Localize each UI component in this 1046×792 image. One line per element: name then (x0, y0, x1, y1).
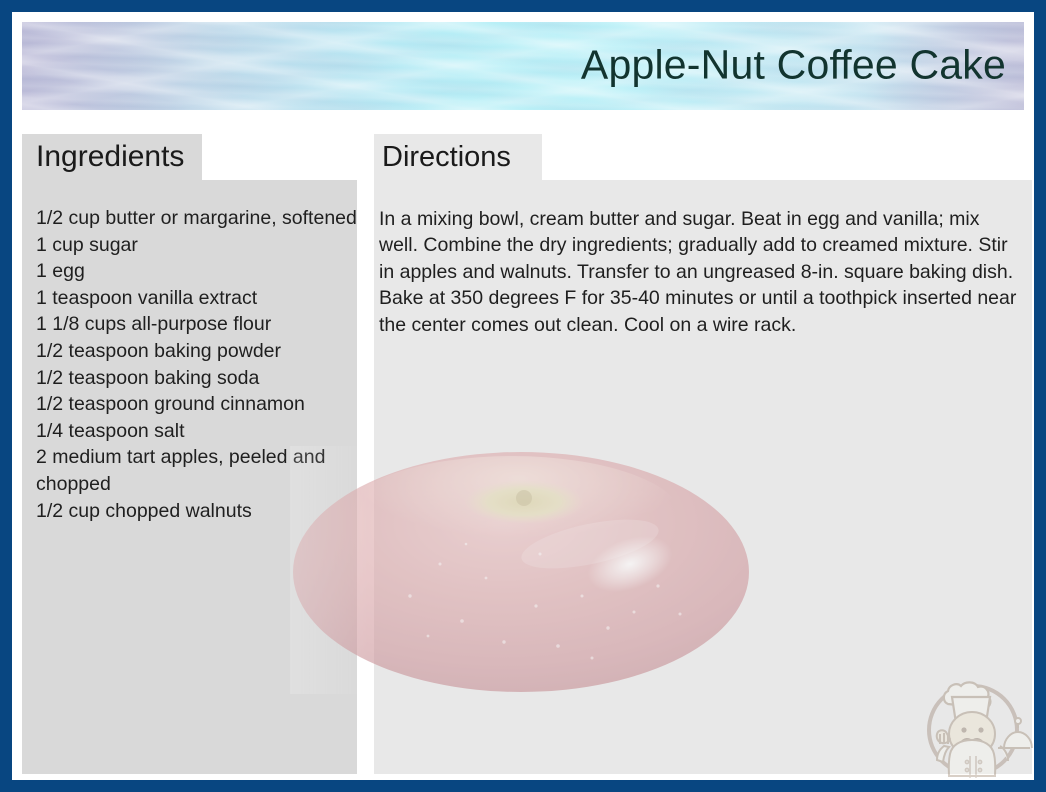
ingredients-heading: Ingredients (36, 142, 184, 172)
list-item: 1/2 teaspoon baking soda (36, 365, 366, 392)
list-item: 1/4 teaspoon salt (36, 418, 366, 445)
chef-logo-icon (910, 658, 1034, 780)
list-item: 1 teaspoon vanilla extract (36, 285, 366, 312)
directions-tab-gap (542, 134, 1032, 180)
list-item: 1/2 cup chopped walnuts (36, 498, 366, 525)
chef-logo (910, 658, 1034, 780)
page-title: Apple-Nut Coffee Cake (581, 45, 1006, 86)
list-item: 1 egg (36, 258, 366, 285)
list-item: 1 cup sugar (36, 232, 366, 259)
list-item: 1/2 teaspoon ground cinnamon (36, 391, 366, 418)
title-banner: Apple-Nut Coffee Cake (22, 22, 1024, 110)
ingredients-list: 1/2 cup butter or margarine, softened 1 … (36, 205, 366, 524)
directions-body: In a mixing bowl, cream butter and sugar… (379, 206, 1017, 338)
slide: Apple-Nut Coffee Cake Ingredients 1/2 cu… (0, 0, 1046, 792)
slide-page: Apple-Nut Coffee Cake Ingredients 1/2 cu… (12, 12, 1034, 780)
list-item: 1/2 teaspoon baking powder (36, 338, 366, 365)
list-item: 1 1/8 cups all-purpose flour (36, 311, 366, 338)
ingredients-tab-gap (202, 134, 357, 180)
directions-heading: Directions (382, 143, 511, 172)
list-item: 1/2 cup butter or margarine, softened (36, 205, 366, 232)
list-item: 2 medium tart apples, peeled and chopped (36, 444, 366, 497)
